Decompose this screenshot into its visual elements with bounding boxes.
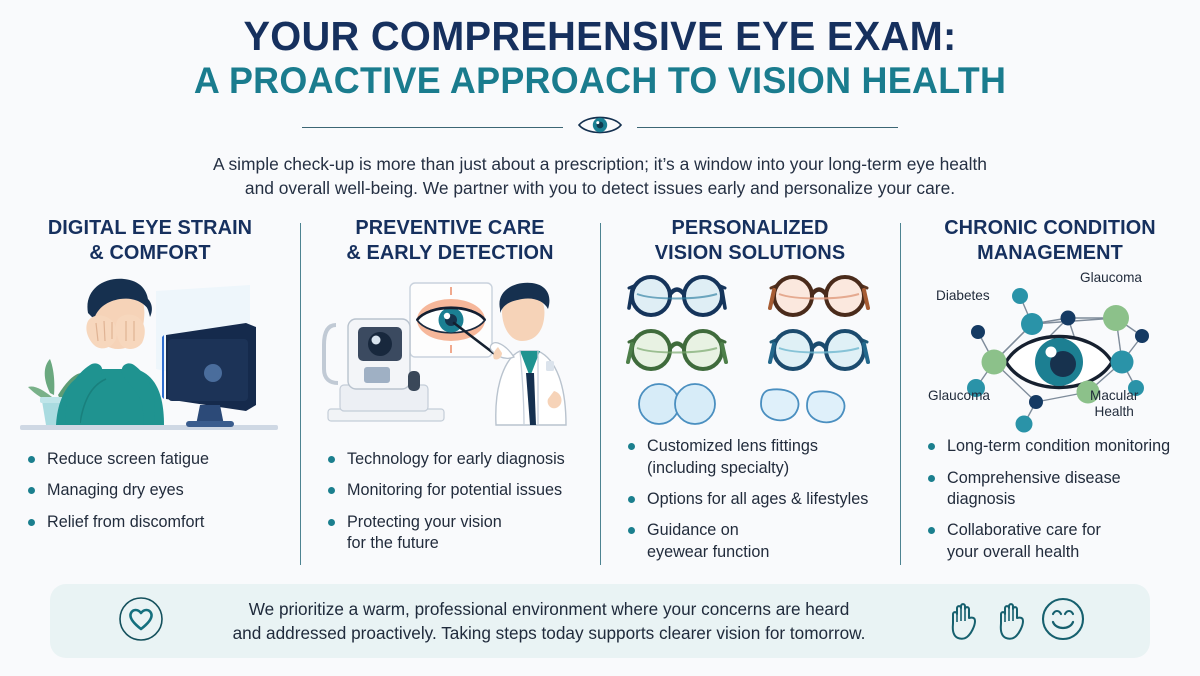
network-label-macular-health: Macular Health (1090, 388, 1138, 419)
intro-paragraph: A simple check-up is more than just abou… (95, 152, 1105, 201)
column-title-line-1: PREVENTIVE CARE (318, 215, 582, 240)
list-item: Comprehensive disease diagnosis (928, 468, 1186, 511)
smiley-face-icon (1040, 596, 1086, 647)
footer-text-line-1: We prioritize a warm, professional envir… (174, 597, 924, 621)
page-title-line-2: A PROACTIVE APPROACH TO VISION HEALTH (18, 60, 1182, 101)
footer-text-line-2: and addressed proactively. Taking steps … (174, 621, 924, 645)
list-item: Long-term condition monitoring (928, 436, 1186, 457)
column-title-line-1: DIGITAL EYE STRAIN (18, 215, 282, 240)
column-title: DIGITAL EYE STRAIN & COMFORT (18, 215, 282, 269)
column-bullet-list: Technology for early diagnosis Monitorin… (314, 449, 586, 565)
illustration-man-rubbing-eyes (14, 269, 286, 449)
list-item: Monitoring for potential issues (328, 480, 586, 501)
column-preventive-care: PREVENTIVE CARE & EARLY DETECTION (300, 215, 600, 573)
column-bullet-list: Customized lens fittings (including spec… (614, 436, 886, 573)
divider-line-left (302, 127, 563, 128)
header-divider (0, 113, 1200, 142)
column-title: PERSONALIZED VISION SOLUTIONS (618, 215, 882, 266)
intro-line-1: A simple check-up is more than just abou… (95, 152, 1105, 177)
column-title-line-1: PERSONALIZED (618, 215, 882, 240)
list-item: Customized lens fittings (including spec… (628, 436, 886, 479)
illustration-eye-network-diagram: Diabetes Glaucoma Glaucoma Macular Healt… (914, 266, 1186, 436)
column-title-line-2: & COMFORT (18, 240, 282, 265)
footer-message: We prioritize a warm, professional envir… (154, 597, 944, 646)
feature-columns: DIGITAL EYE STRAIN & COMFORT (0, 215, 1200, 573)
column-title: CHRONIC CONDITION MANAGEMENT (918, 215, 1182, 266)
infographic-header: YOUR COMPREHENSIVE EYE EXAM: A PROACTIVE… (0, 0, 1200, 201)
list-item: Reduce screen fatigue (28, 449, 286, 470)
column-bullet-list: Long-term condition monitoring Comprehen… (914, 436, 1186, 573)
hand-icon (944, 596, 984, 647)
column-title-line-2: MANAGEMENT (918, 240, 1182, 265)
footer-icon-group (944, 596, 1086, 647)
illustration-eyewear-options (614, 266, 886, 436)
network-label-glaucoma-bottom: Glaucoma (928, 388, 990, 404)
footer-banner: We prioritize a warm, professional envir… (50, 584, 1150, 658)
illustration-optometrist-exam (314, 269, 586, 449)
list-item: Options for all ages & lifestyles (628, 489, 886, 510)
column-title-line-2: & EARLY DETECTION (318, 240, 582, 265)
list-item: Collaborative care for your overall heal… (928, 520, 1186, 563)
network-label-diabetes: Diabetes (936, 288, 990, 304)
list-item: Protecting your vision for the future (328, 512, 586, 555)
column-digital-eye-strain: DIGITAL EYE STRAIN & COMFORT (0, 215, 300, 573)
list-item: Guidance on eyewear function (628, 520, 886, 563)
eye-icon (577, 113, 623, 142)
network-label-glaucoma-top: Glaucoma (1080, 270, 1142, 286)
intro-line-2: and overall well-being. We partner with … (95, 176, 1105, 201)
hand-icon (992, 596, 1032, 647)
list-item: Technology for early diagnosis (328, 449, 586, 470)
list-item: Managing dry eyes (28, 480, 286, 501)
column-chronic-condition: CHRONIC CONDITION MANAGEMENT (900, 215, 1200, 573)
column-personalized-vision: PERSONALIZED VISION SOLUTIONS (600, 215, 900, 573)
page-title-line-1: YOUR COMPREHENSIVE EYE EXAM: (18, 14, 1182, 58)
column-title-line-2: VISION SOLUTIONS (618, 240, 882, 265)
list-item: Relief from discomfort (28, 512, 286, 533)
column-title: PREVENTIVE CARE & EARLY DETECTION (318, 215, 582, 269)
column-bullet-list: Reduce screen fatigue Managing dry eyes … (14, 449, 286, 543)
column-title-line-1: CHRONIC CONDITION (918, 215, 1182, 240)
divider-line-right (637, 127, 898, 128)
